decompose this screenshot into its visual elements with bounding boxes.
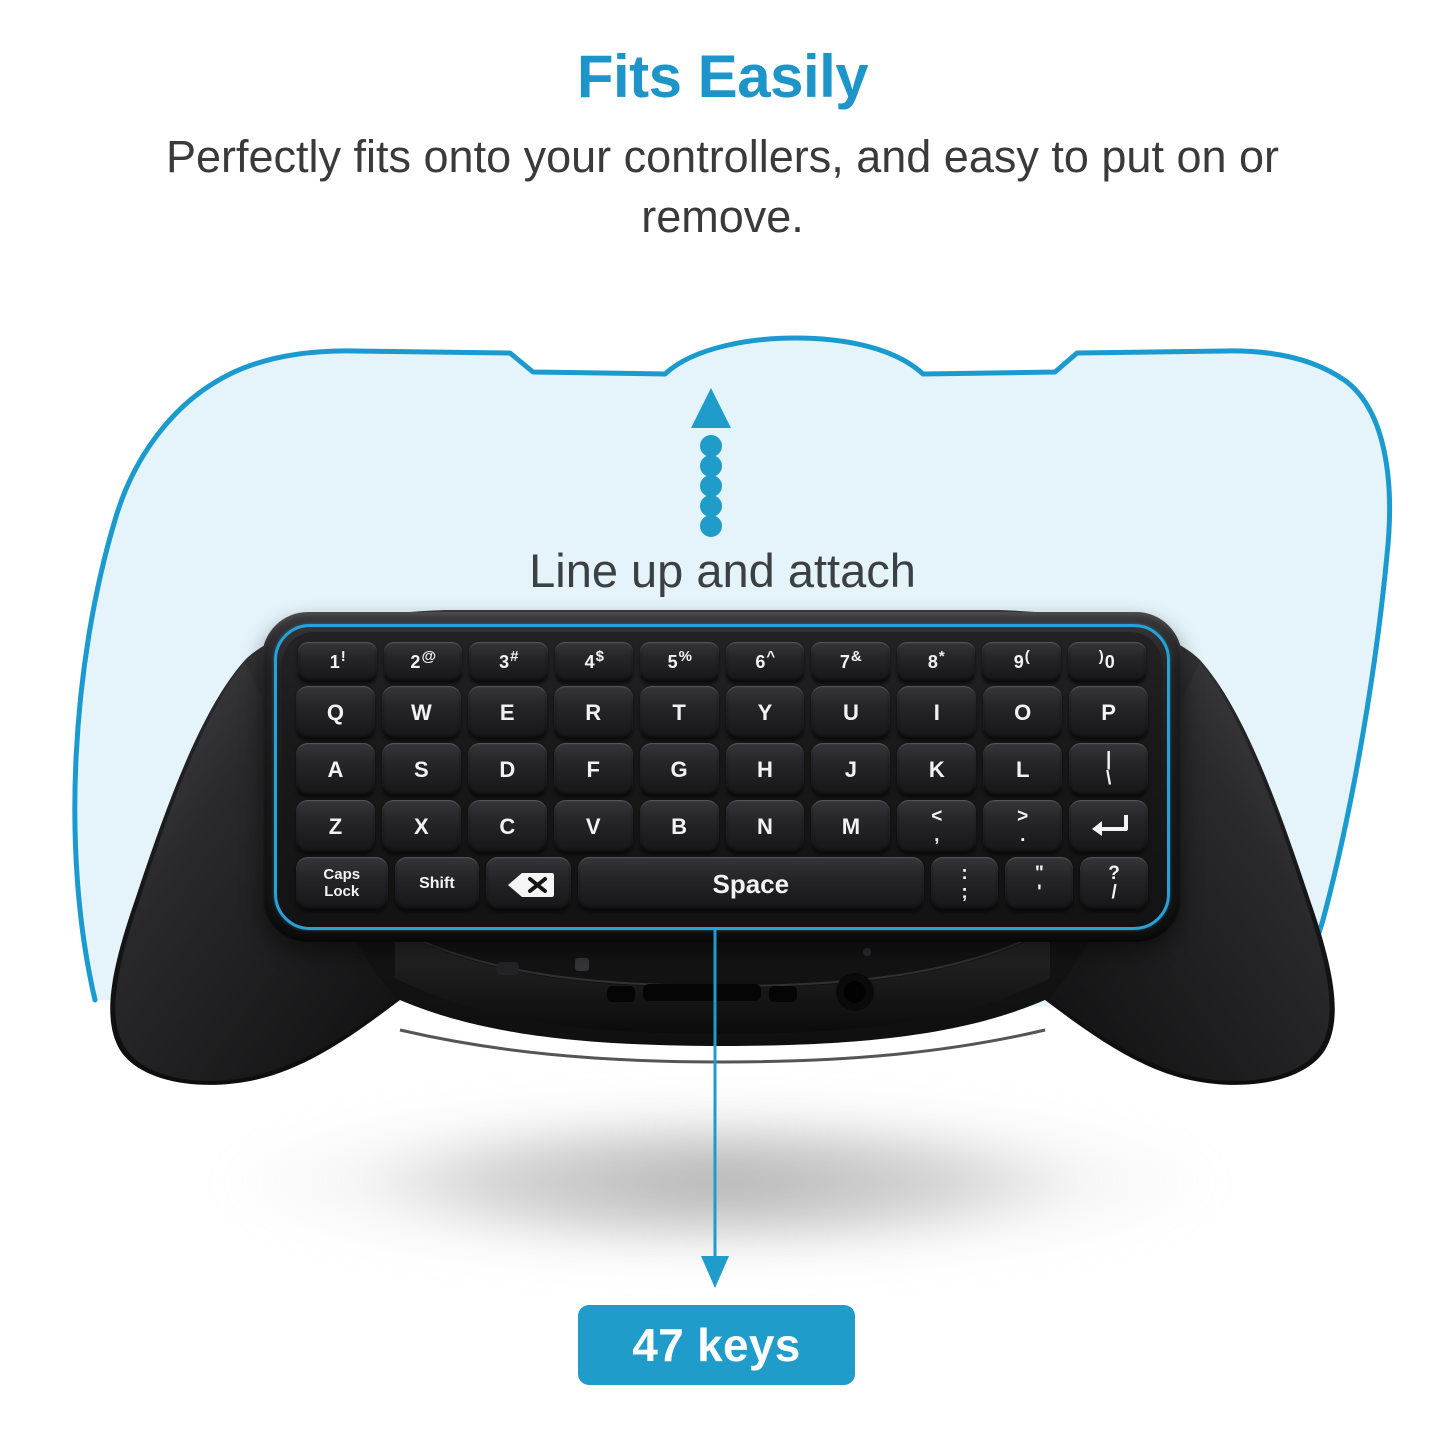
key-8[interactable]: 8* bbox=[897, 642, 976, 682]
key-2[interactable]: 2@ bbox=[384, 642, 463, 682]
home-row: A S D F G H J K L | \ bbox=[296, 743, 1148, 796]
key-5[interactable]: 5% bbox=[640, 642, 719, 682]
key-legend-bottom: ' bbox=[1037, 885, 1042, 901]
key-e[interactable]: E bbox=[468, 686, 547, 739]
key-d[interactable]: D bbox=[468, 743, 547, 796]
key-g[interactable]: G bbox=[640, 743, 719, 796]
key-u[interactable]: U bbox=[811, 686, 890, 739]
key-3[interactable]: 3# bbox=[469, 642, 548, 682]
header: Fits Easily Perfectly fits onto your con… bbox=[0, 0, 1445, 247]
key-legend-top: ? bbox=[1108, 866, 1120, 882]
key-slash[interactable]: ? / bbox=[1080, 857, 1148, 910]
key-legend-bottom: . bbox=[1020, 828, 1025, 844]
key-4[interactable]: 4$ bbox=[555, 642, 634, 682]
key-enter[interactable] bbox=[1069, 800, 1148, 853]
key-j[interactable]: J bbox=[811, 743, 890, 796]
key-legend-top: | bbox=[1106, 752, 1111, 768]
key-legend-top: > bbox=[1017, 809, 1028, 825]
key-0[interactable]: )0 bbox=[1068, 642, 1147, 682]
key-h[interactable]: H bbox=[726, 743, 805, 796]
key-9[interactable]: 9( bbox=[982, 642, 1061, 682]
key-o[interactable]: O bbox=[983, 686, 1062, 739]
key-m[interactable]: M bbox=[811, 800, 890, 853]
key-count-badge: 47 keys bbox=[578, 1305, 855, 1385]
zxcv-row: Z X C V B N M < , > . bbox=[296, 800, 1148, 853]
key-a[interactable]: A bbox=[296, 743, 375, 796]
number-row: 1! 2@ 3# 4$ 5% 6^ 7& 8* 9( )0 bbox=[296, 642, 1148, 682]
key-legend-top: : bbox=[961, 866, 967, 882]
key-q[interactable]: Q bbox=[296, 686, 375, 739]
page-subtitle: Perfectly fits onto your controllers, an… bbox=[163, 111, 1283, 247]
key-c[interactable]: C bbox=[468, 800, 547, 853]
attach-instruction-label: Line up and attach bbox=[0, 543, 1445, 598]
keyboard-key-area: 1! 2@ 3# 4$ 5% 6^ 7& 8* 9( )0 Q W E R T … bbox=[282, 632, 1162, 922]
key-caps-lock[interactable]: Caps Lock bbox=[296, 857, 388, 910]
key-legend-top: " bbox=[1035, 866, 1044, 882]
key-f[interactable]: F bbox=[554, 743, 633, 796]
key-7[interactable]: 7& bbox=[811, 642, 890, 682]
key-legend-bottom: / bbox=[1111, 885, 1116, 901]
caps-line-2: Lock bbox=[324, 884, 359, 901]
key-t[interactable]: T bbox=[640, 686, 719, 739]
key-shift[interactable]: Shift bbox=[395, 857, 480, 910]
key-s[interactable]: S bbox=[382, 743, 461, 796]
key-r[interactable]: R bbox=[554, 686, 633, 739]
keyboard-module: 1! 2@ 3# 4$ 5% 6^ 7& 8* 9( )0 Q W E R T … bbox=[262, 612, 1182, 942]
key-semicolon[interactable]: : ; bbox=[931, 857, 999, 910]
key-k[interactable]: K bbox=[897, 743, 976, 796]
key-1[interactable]: 1! bbox=[298, 642, 377, 682]
key-comma[interactable]: < , bbox=[897, 800, 976, 853]
key-p[interactable]: P bbox=[1069, 686, 1148, 739]
key-6[interactable]: 6^ bbox=[726, 642, 805, 682]
key-v[interactable]: V bbox=[554, 800, 633, 853]
key-legend-top: < bbox=[931, 809, 942, 825]
key-legend-bottom: , bbox=[934, 828, 939, 844]
key-b[interactable]: B bbox=[640, 800, 719, 853]
key-backspace[interactable] bbox=[486, 857, 571, 910]
key-space[interactable]: Space bbox=[578, 857, 924, 910]
key-z[interactable]: Z bbox=[296, 800, 375, 853]
key-pipe-backslash[interactable]: | \ bbox=[1069, 743, 1148, 796]
key-n[interactable]: N bbox=[726, 800, 805, 853]
key-legend-bottom: \ bbox=[1106, 771, 1111, 787]
infographic-page: Fits Easily Perfectly fits onto your con… bbox=[0, 0, 1445, 1445]
key-w[interactable]: W bbox=[382, 686, 461, 739]
key-y[interactable]: Y bbox=[726, 686, 805, 739]
qwerty-row: Q W E R T Y U I O P bbox=[296, 686, 1148, 739]
key-legend-bottom: ; bbox=[961, 885, 967, 901]
key-l[interactable]: L bbox=[983, 743, 1062, 796]
key-period[interactable]: > . bbox=[983, 800, 1062, 853]
backspace-icon bbox=[507, 872, 551, 896]
bottom-row: Caps Lock Shift Space : ; bbox=[296, 857, 1148, 910]
key-x[interactable]: X bbox=[382, 800, 461, 853]
page-title: Fits Easily bbox=[0, 0, 1445, 111]
enter-arrow-icon bbox=[1090, 813, 1128, 841]
key-quote[interactable]: " ' bbox=[1005, 857, 1073, 910]
dotted-up-arrow-icon bbox=[690, 388, 732, 543]
caps-line-1: Caps bbox=[323, 867, 360, 884]
key-i[interactable]: I bbox=[897, 686, 976, 739]
down-arrow-leader-icon bbox=[700, 930, 730, 1290]
